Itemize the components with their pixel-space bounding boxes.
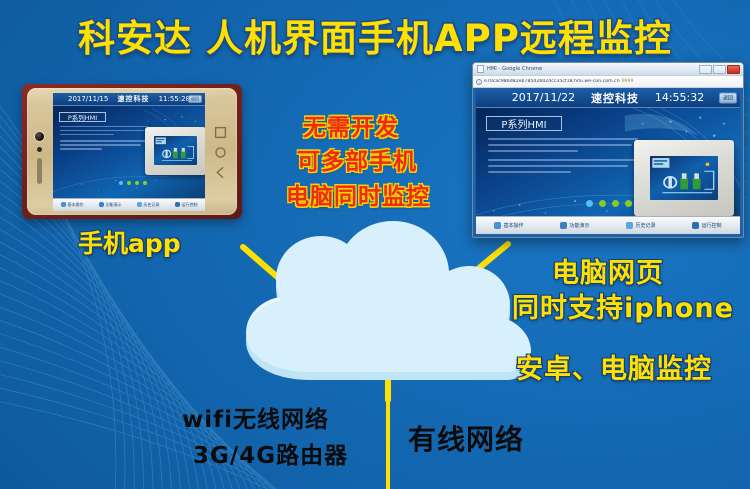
browser-hmi-body-text — [488, 138, 638, 173]
phone-hmi-page: 2017/11/15 速控科技 11:55:28 返回 P系列HMI — [53, 93, 205, 211]
phone-screen[interactable]: 2017/11/15 速控科技 11:55:28 返回 P系列HMI — [53, 93, 205, 211]
phone-footer-button-2[interactable]: 历史记录 — [137, 202, 160, 208]
earpiece-speaker-icon — [37, 158, 42, 184]
history-record-icon — [626, 222, 633, 229]
browser-window-title: HMI - Google Chrome — [487, 66, 699, 72]
label-wired-network: 有线网络 — [408, 418, 524, 458]
smartphone-device: 2017/11/15 速控科技 11:55:28 返回 P系列HMI — [22, 84, 242, 219]
phone-footer-button-0[interactable]: 基本操作 — [61, 202, 84, 208]
close-button[interactable] — [727, 65, 740, 74]
phone-hmi-topbar: 2017/11/15 速控科技 11:55:28 返回 — [53, 93, 205, 106]
basic-operation-icon — [494, 222, 501, 229]
label-pc-web: 电脑网页 — [552, 251, 664, 290]
phone-hmi-date: 2017/11/15 — [68, 95, 108, 103]
browser-footer-button-1[interactable]: 功能演示 — [560, 222, 589, 229]
page-title: 科安达 人机界面手机APP远程监控 — [78, 8, 672, 62]
browser-address-bar[interactable]: i e70cac986d82eb78542b024cc35cf18.hmi.we… — [473, 76, 743, 88]
home-icon[interactable] — [214, 146, 227, 159]
browser-viewport[interactable]: 2017/11/22 速控科技 14:55:32 返回 P系列HMI — [473, 88, 743, 237]
browser-footer-button-3[interactable]: 运行控制 — [692, 222, 721, 229]
label-no-development: 无需开发 — [303, 108, 399, 142]
browser-titlebar[interactable]: HMI - Google Chrome — [473, 63, 743, 76]
basic-operation-icon — [61, 202, 66, 207]
maximize-button[interactable] — [713, 65, 726, 74]
browser-hmi-page: 2017/11/22 速控科技 14:55:32 返回 P系列HMI — [476, 88, 740, 234]
browser-hmi-product-screen — [650, 156, 718, 200]
proximity-sensor-icon — [37, 147, 42, 152]
phone-hmi-status-dots — [119, 181, 147, 185]
phone-hmi-footer-toolbar: 基本操作 功能演示 历史记录 运行控制 — [53, 198, 205, 211]
window-controls[interactable] — [699, 65, 741, 74]
phone-hmi-product-image — [145, 127, 205, 175]
label-supports-iphone: 同时支持iphone — [512, 286, 734, 325]
phone-hmi-product-screen — [154, 136, 197, 166]
browser-hmi-brand: 速控科技 — [591, 90, 639, 106]
header-banner: 科安达 人机界面手机APP远程监控 — [0, 6, 750, 64]
url-suffix-text: 9999 — [622, 79, 634, 84]
back-icon[interactable] — [214, 166, 227, 179]
phone-right-bezel — [205, 88, 237, 215]
browser-hmi-time: 14:55:32 — [655, 91, 704, 104]
label-phone-app: 手机app — [78, 224, 181, 260]
browser-hmi-product-image — [634, 140, 734, 216]
phone-hmi-body-text — [60, 126, 148, 150]
label-3g-4g-router: 3G/4G路由器 — [193, 436, 348, 470]
minimize-button[interactable] — [699, 65, 712, 74]
phone-left-bezel — [27, 88, 53, 215]
run-control-icon — [175, 202, 180, 207]
label-pc-simultaneous-monitoring: 电脑同时监控 — [286, 177, 430, 211]
label-multi-phone: 可多部手机 — [297, 142, 417, 176]
browser-hmi-footer-toolbar: 基本操作 功能演示 历史记录 运行控制 — [476, 216, 740, 234]
browser-hmi-status-dots — [586, 200, 632, 207]
url-text[interactable]: e70cac986d82eb78542b024cc35cf18.hmi.we-c… — [484, 79, 620, 84]
browser-hmi-topbar: 2017/11/22 速控科技 14:55:32 返回 — [476, 88, 740, 108]
run-control-icon — [692, 222, 699, 229]
function-demo-icon — [560, 222, 567, 229]
phone-hmi-time: 11:55:28 — [159, 95, 190, 103]
browser-footer-button-2[interactable]: 历史记录 — [626, 222, 655, 229]
browser-hmi-date: 2017/11/22 — [512, 91, 575, 104]
phone-body: 2017/11/15 速控科技 11:55:28 返回 P系列HMI — [27, 88, 237, 215]
history-record-icon — [137, 202, 142, 207]
label-android-pc-monitoring: 安卓、电脑监控 — [516, 347, 712, 386]
browser-footer-button-0[interactable]: 基本操作 — [494, 222, 523, 229]
label-wifi-network: wifi无线网络 — [182, 400, 329, 434]
browser-hmi-back-button[interactable]: 返回 — [719, 92, 737, 103]
phone-footer-button-1[interactable]: 功能演示 — [99, 202, 122, 208]
browser-window[interactable]: HMI - Google Chrome i e70cac986d82eb7854… — [472, 62, 744, 238]
phone-footer-button-3[interactable]: 运行控制 — [175, 202, 198, 208]
phone-hmi-page-title: P系列HMI — [59, 112, 106, 122]
recent-apps-icon[interactable] — [214, 126, 227, 139]
function-demo-icon — [99, 202, 104, 207]
site-info-icon[interactable]: i — [476, 79, 482, 85]
phone-hmi-back-button[interactable]: 返回 — [188, 95, 202, 103]
phone-hmi-brand: 速控科技 — [117, 94, 149, 104]
network-type-divider — [386, 392, 390, 489]
page-favicon-icon — [477, 65, 484, 73]
browser-hmi-page-title: P系列HMI — [486, 116, 562, 131]
front-camera-icon — [35, 132, 44, 141]
